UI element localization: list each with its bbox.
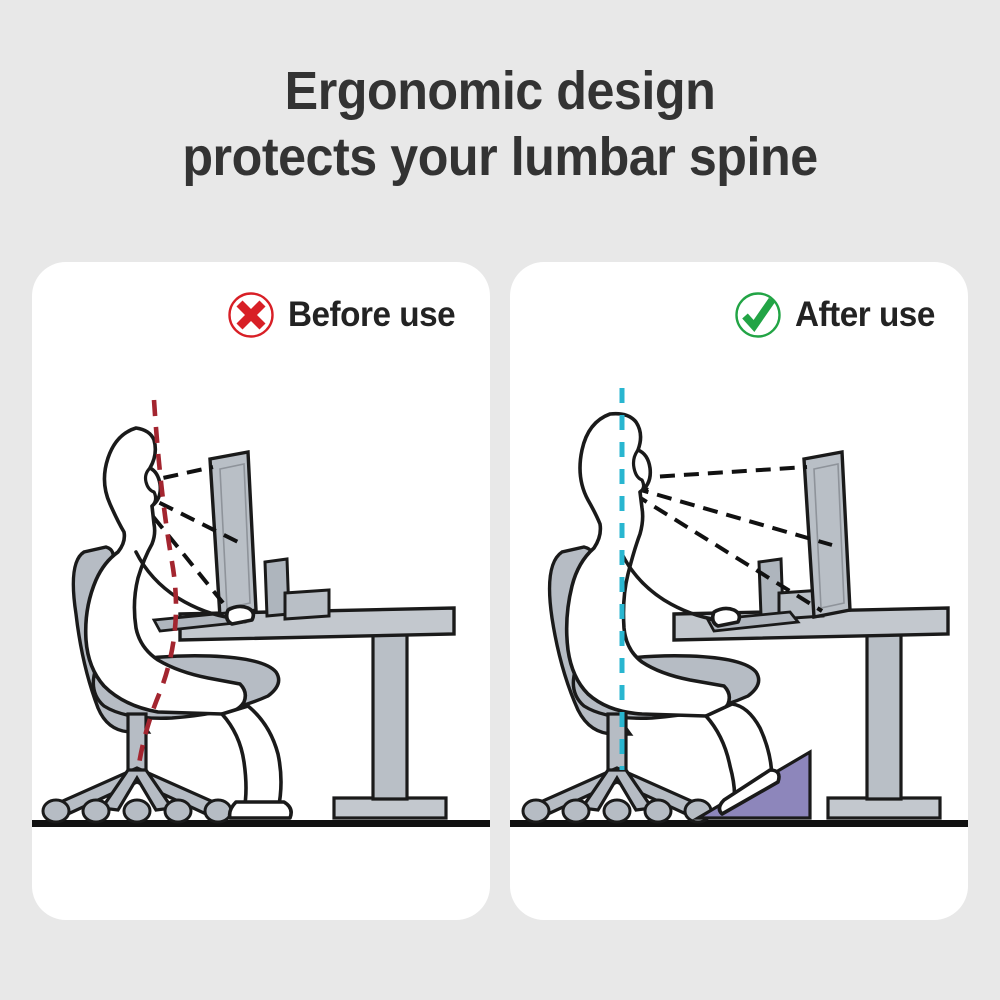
page-title-line-2: protects your lumbar spine xyxy=(35,124,965,190)
sight-lines xyxy=(632,467,832,611)
poster-root: Ergonomic design protects your lumbar sp… xyxy=(0,0,1000,1000)
card-after-use: After use xyxy=(510,262,968,920)
person-hand xyxy=(713,608,740,626)
sightline-middle xyxy=(634,488,832,545)
sightline-top xyxy=(636,467,807,478)
illustration-after-use xyxy=(510,262,968,920)
person-lower-leg xyxy=(222,706,281,810)
illustration-before-use xyxy=(32,262,490,920)
page-title-line-1: Ergonomic design xyxy=(35,58,965,124)
person-foot xyxy=(230,802,292,818)
page-title: Ergonomic design protects your lumbar sp… xyxy=(35,58,965,191)
card-before-use: Before use xyxy=(32,262,490,920)
person-hand xyxy=(227,606,254,624)
